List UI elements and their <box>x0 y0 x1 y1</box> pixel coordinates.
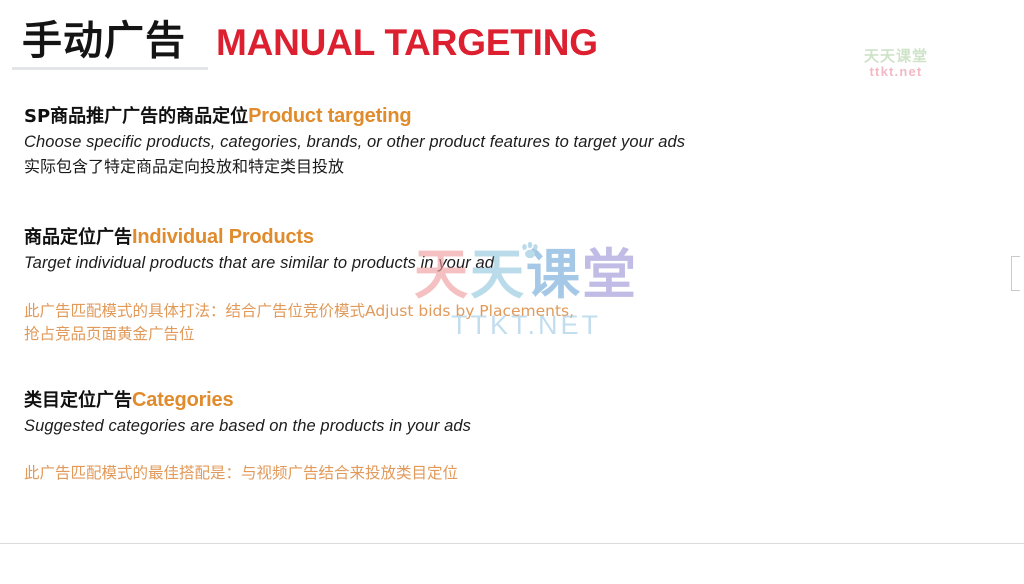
block-note-chinese: 实际包含了特定商品定向投放和特定类目投放 <box>24 156 984 178</box>
block-heading: 类目定位广告Categories <box>24 388 984 413</box>
block-heading: 商品定位广告Individual Products <box>24 225 984 250</box>
spacer <box>24 438 984 462</box>
block-subtitle-english: Suggested categories are based on the pr… <box>24 415 984 437</box>
block-heading-chinese: 类目定位广告 <box>24 390 132 411</box>
content-block-individual-products: 商品定位广告Individual Products Target individ… <box>24 225 984 347</box>
block-subtitle-english: Target individual products that are simi… <box>24 252 984 274</box>
bottom-divider <box>0 543 1024 544</box>
block-heading-chinese: 商品定位广告 <box>24 227 132 248</box>
title-underline <box>12 67 208 70</box>
page-title-chinese: 手动广告 <box>22 20 186 62</box>
block-tip-chinese: 此广告匹配模式的最佳搭配是：与视频广告结合来投放类目定位 <box>24 462 984 485</box>
block-heading: SP商品推广广告的商品定位Product targeting <box>24 104 984 129</box>
block-heading-english: Categories <box>132 389 233 411</box>
slide-content: SP商品推广广告的商品定位Product targeting Choose sp… <box>24 104 984 485</box>
title-chinese-wrap: 手动广告 <box>22 20 186 70</box>
spacer <box>24 179 984 225</box>
right-edge-marker <box>1011 256 1012 291</box>
block-heading-english: Individual Products <box>132 226 314 248</box>
spacer <box>24 346 984 388</box>
block-tip-chinese-line2: 抢占竞品页面黄金广告位 <box>24 323 984 346</box>
block-heading-english: Product targeting <box>248 105 411 127</box>
corner-logo-domain: ttkt.net <box>864 65 928 80</box>
page-title-english: MANUAL TARGETING <box>216 24 598 70</box>
slide-canvas: 手动广告 MANUAL TARGETING 天天课堂 ttkt.net SP商品… <box>0 0 1024 584</box>
block-subtitle-english: Choose specific products, categories, br… <box>24 131 984 153</box>
block-heading-chinese: SP商品推广广告的商品定位 <box>24 106 248 127</box>
right-edge-tick-top <box>1011 256 1020 257</box>
corner-logo: 天天课堂 ttkt.net <box>864 48 928 80</box>
content-block-categories: 类目定位广告Categories Suggested categories ar… <box>24 388 984 485</box>
content-block-product-targeting: SP商品推广广告的商品定位Product targeting Choose sp… <box>24 104 984 179</box>
right-edge-tick-bottom <box>1011 290 1020 291</box>
slide-title-row: 手动广告 MANUAL TARGETING <box>22 20 598 70</box>
block-tip-chinese-line1: 此广告匹配模式的具体打法：结合广告位竞价模式Adjust bids by Pla… <box>24 300 984 323</box>
corner-logo-chinese: 天天课堂 <box>864 48 928 65</box>
spacer <box>24 274 984 300</box>
